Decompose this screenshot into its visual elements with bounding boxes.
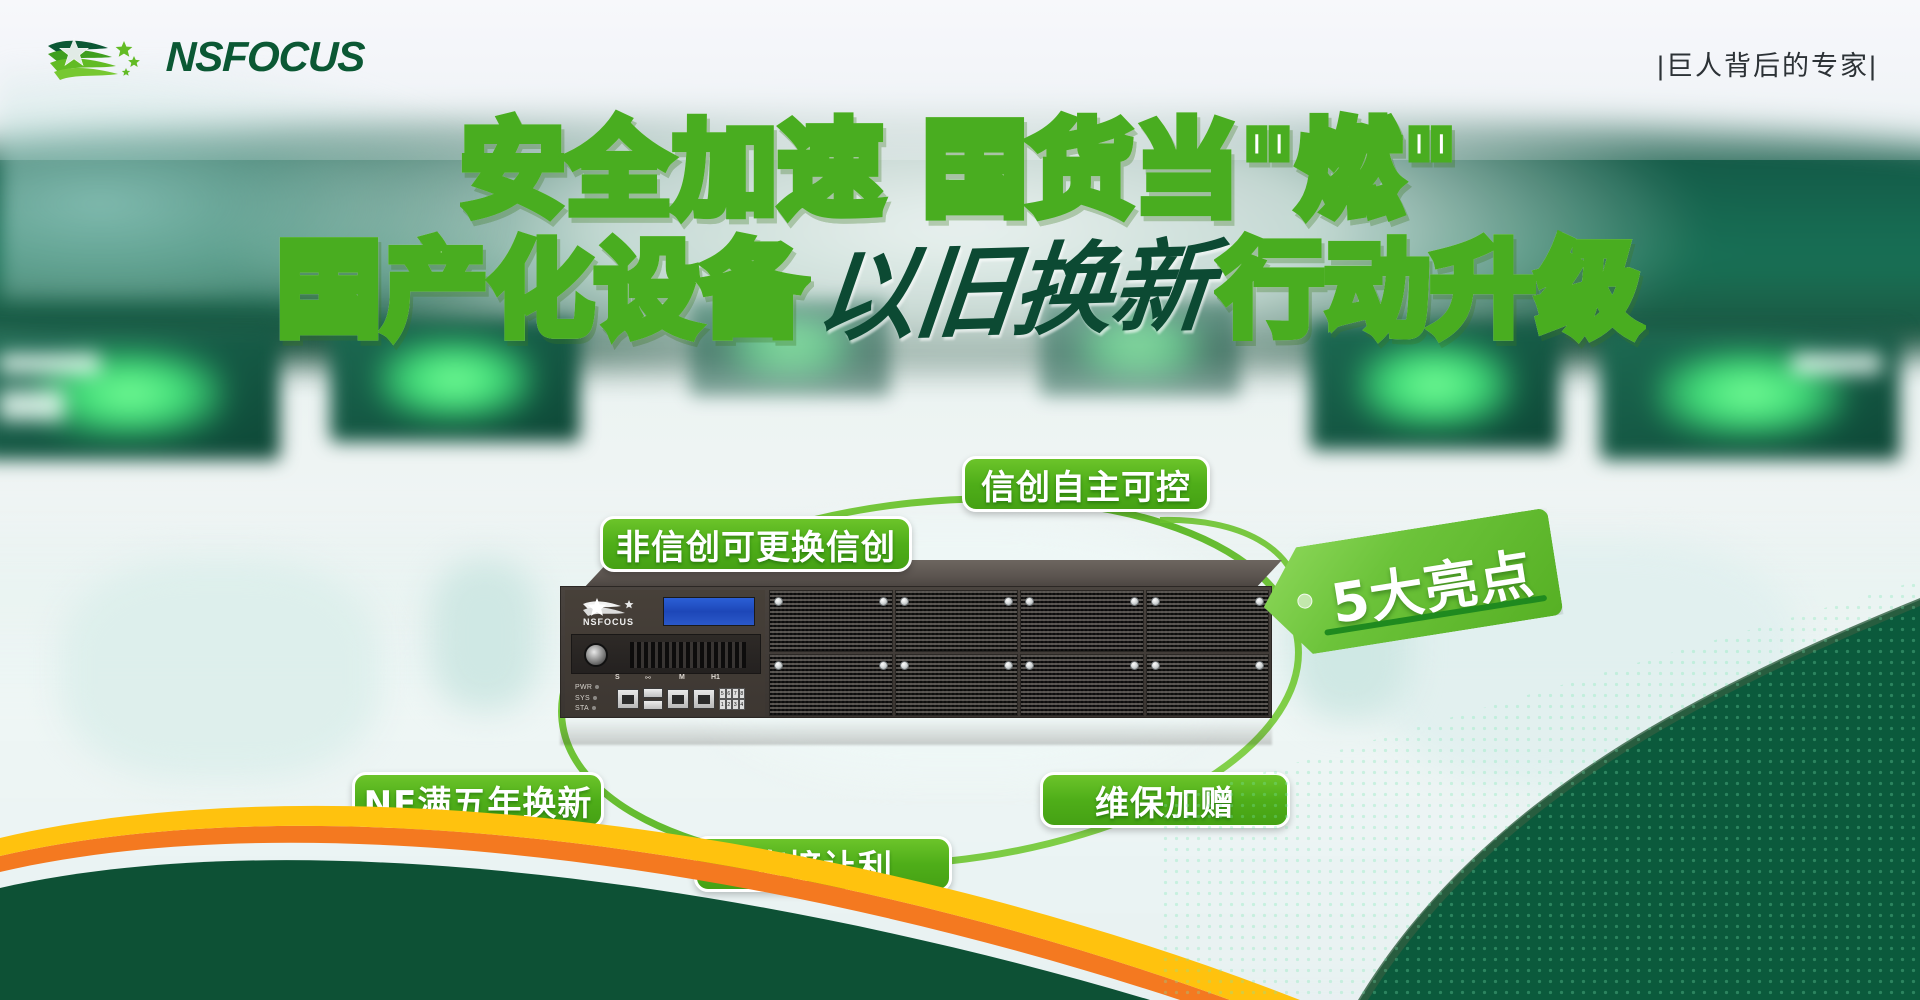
background-person-left	[430, 560, 540, 710]
feature-badge-non-xinchuang-replace[interactable]: 非信创可更换信创	[600, 516, 912, 572]
server-reflection	[560, 719, 1272, 745]
server-drive-bay-lock	[571, 634, 761, 674]
server-nsfocus-logo-icon: NSFOCUS	[577, 596, 657, 628]
headline-row-1: 安全加速 国货当"燃"	[0, 112, 1920, 228]
server-numbered-port-block: 5678 1234	[719, 688, 745, 710]
server-mgmt-port	[667, 689, 689, 709]
headline-line-2-left: 国产化设备	[277, 232, 807, 348]
headline-line-1: 安全加速 国货当"燃"	[461, 112, 1460, 228]
feature-badge-direct-discount[interactable]: 直接让利	[694, 836, 952, 892]
drive-bay	[1020, 654, 1144, 716]
server-io-ports: PWR SYS STA 5678 1234	[571, 680, 763, 718]
background-monitor-1	[0, 330, 280, 460]
brand-logo[interactable]: NSFOCUS	[44, 32, 364, 82]
server-status-leds: PWR SYS STA	[571, 683, 617, 715]
server-vent-grille	[630, 642, 746, 668]
server-control-panel: NSFOCUS S ⚯ M H1 PWR SYS	[565, 590, 765, 716]
led-pwr: PWR	[575, 683, 617, 694]
product-server-appliance: NSFOCUS S ⚯ M H1 PWR SYS	[560, 586, 1272, 746]
server-lock-icon	[584, 643, 608, 667]
headline-line-2-right: 行动升级	[1219, 232, 1643, 348]
server-front-face: NSFOCUS S ⚯ M H1 PWR SYS	[560, 586, 1272, 718]
drive-bay	[1146, 654, 1270, 716]
drive-bay	[895, 654, 1019, 716]
led-sta: STA	[575, 704, 617, 715]
drive-bay	[769, 590, 893, 652]
server-ha-port	[693, 689, 715, 709]
server-usb-ports	[643, 688, 663, 710]
led-sys: SYS	[575, 694, 617, 705]
brand-tagline: |巨人背后的专家|	[1657, 44, 1878, 83]
background-blob-left	[60, 560, 380, 780]
poster-canvas: NSFOCUS |巨人背后的专家| 安全加速 国货当"燃" 国产化设备 以旧换新…	[0, 0, 1920, 1000]
headline-block: 安全加速 国货当"燃" 国产化设备 以旧换新 行动升级	[0, 112, 1920, 349]
svg-text:NSFOCUS: NSFOCUS	[583, 617, 634, 627]
brand-logo-text: NSFOCUS	[165, 33, 365, 81]
background-monitor-4	[1600, 330, 1900, 460]
server-drive-bays	[769, 590, 1269, 716]
headline-row-2: 国产化设备 以旧换新 行动升级	[0, 232, 1920, 348]
server-lcd-display	[663, 597, 755, 626]
nsfocus-flag-star-icon	[44, 32, 156, 82]
headline-calligraphy: 以旧换新	[802, 235, 1225, 346]
drive-bay	[769, 654, 893, 716]
drive-bay	[895, 590, 1019, 652]
drive-bay	[1146, 590, 1270, 652]
feature-badge-xinchuang-autonomous[interactable]: 信创自主可控	[962, 456, 1210, 512]
feature-badge-nf-five-year-renew[interactable]: NF满五年换新	[352, 772, 604, 828]
server-console-port	[617, 689, 639, 709]
drive-bay	[1020, 590, 1144, 652]
